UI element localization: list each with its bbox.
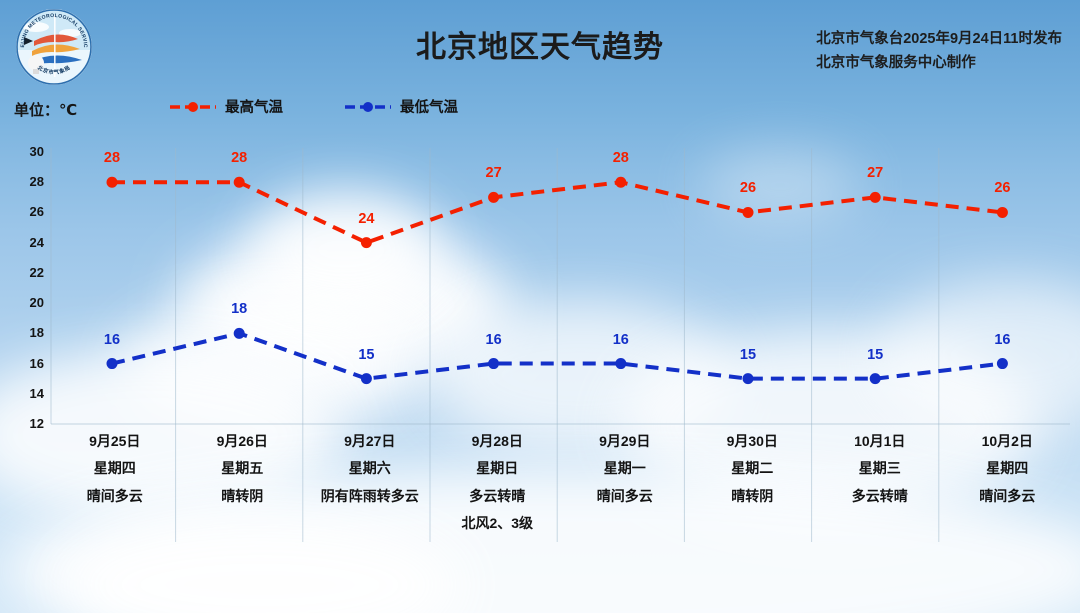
day-weekday: 星期六	[306, 455, 434, 482]
day-column[interactable]: 9月26日星期五晴转阴	[179, 428, 307, 537]
low-temp-value-label: 16	[613, 332, 629, 348]
day-weekday: 星期日	[434, 455, 562, 482]
legend-high-marker-icon	[170, 100, 218, 114]
high-temp-value-label: 24	[358, 211, 374, 227]
day-weekday: 星期二	[689, 455, 817, 482]
publisher-line-1: 北京市气象台2025年9月24日11时发布	[816, 28, 1062, 52]
y-axis-tick-label: 30	[14, 144, 44, 159]
y-axis-tick-label: 28	[14, 174, 44, 189]
y-axis-tick-label: 24	[14, 235, 44, 250]
day-column[interactable]: 10月2日星期四晴间多云	[944, 428, 1072, 537]
day-date: 10月1日	[816, 428, 944, 455]
publisher-info: 北京市气象台2025年9月24日11时发布 北京市气象服务中心制作	[816, 28, 1062, 76]
day-weather: 多云转晴	[816, 483, 944, 510]
day-column[interactable]: 10月1日星期三多云转晴	[816, 428, 944, 537]
chart-legend: 最高气温 最低气温	[170, 96, 458, 117]
low-temp-value-label: 18	[231, 301, 247, 317]
day-column[interactable]: 9月27日星期六阴有阵雨转多云	[306, 428, 434, 537]
day-weekday: 星期五	[179, 455, 307, 482]
y-axis-tick-label: 26	[14, 204, 44, 219]
y-axis-tick-label: 16	[14, 356, 44, 371]
low-temp-value-label: 16	[486, 332, 502, 348]
low-temp-value-label: 16	[994, 332, 1010, 348]
day-column[interactable]: 9月29日星期一晴间多云	[561, 428, 689, 537]
day-date: 9月27日	[306, 428, 434, 455]
legend-low-marker-icon	[345, 100, 393, 114]
day-weekday: 星期四	[51, 455, 179, 482]
low-temp-value-label: 15	[867, 347, 883, 363]
y-axis-tick-label: 22	[14, 265, 44, 280]
day-weather: 阴有阵雨转多云	[306, 483, 434, 510]
day-date: 10月2日	[944, 428, 1072, 455]
weather-trend-infographic: BEIJING METEOROLOGICAL SERVICE 北京市气象局 北京…	[0, 0, 1080, 613]
day-weather: 晴间多云	[944, 483, 1072, 510]
day-weekday: 星期四	[944, 455, 1072, 482]
unit-label: 单位：℃	[14, 99, 77, 120]
day-column[interactable]: 9月25日星期四晴间多云	[51, 428, 179, 537]
y-axis-tick-label: 18	[14, 325, 44, 340]
day-column[interactable]: 9月28日星期日多云转晴北风2、3级	[434, 428, 562, 537]
high-temp-value-label: 28	[104, 150, 120, 166]
y-axis-tick-label: 20	[14, 295, 44, 310]
day-date: 9月25日	[51, 428, 179, 455]
high-temp-value-label: 28	[231, 150, 247, 166]
day-weather: 晴间多云	[51, 483, 179, 510]
day-weather: 多云转晴	[434, 483, 562, 510]
low-temp-value-label: 15	[358, 347, 374, 363]
day-date: 9月26日	[179, 428, 307, 455]
day-date: 9月28日	[434, 428, 562, 455]
low-temp-value-label: 15	[740, 347, 756, 363]
day-date: 9月29日	[561, 428, 689, 455]
day-weather: 晴转阴	[179, 483, 307, 510]
day-weekday: 星期一	[561, 455, 689, 482]
legend-high-label: 最高气温	[225, 96, 283, 117]
day-date: 9月30日	[689, 428, 817, 455]
legend-item-high: 最高气温	[170, 96, 283, 117]
day-column[interactable]: 9月30日星期二晴转阴	[689, 428, 817, 537]
low-temp-value-label: 16	[104, 332, 120, 348]
high-temp-value-label: 27	[486, 165, 502, 181]
day-columns: 9月25日星期四晴间多云9月26日星期五晴转阴9月27日星期六阴有阵雨转多云9月…	[51, 428, 1071, 537]
day-weather: 晴转阴	[689, 483, 817, 510]
high-temp-value-label: 26	[994, 180, 1010, 196]
legend-low-label: 最低气温	[400, 96, 458, 117]
high-temp-value-label: 26	[740, 180, 756, 196]
high-temp-value-label: 27	[867, 165, 883, 181]
day-wind: 北风2、3级	[434, 510, 562, 537]
publisher-line-2: 北京市气象服务中心制作	[816, 52, 1062, 76]
y-axis-tick-label: 12	[14, 416, 44, 431]
legend-item-low: 最低气温	[345, 96, 458, 117]
y-axis-tick-label: 14	[14, 386, 44, 401]
day-weekday: 星期三	[816, 455, 944, 482]
day-weather: 晴间多云	[561, 483, 689, 510]
high-temp-value-label: 28	[613, 150, 629, 166]
